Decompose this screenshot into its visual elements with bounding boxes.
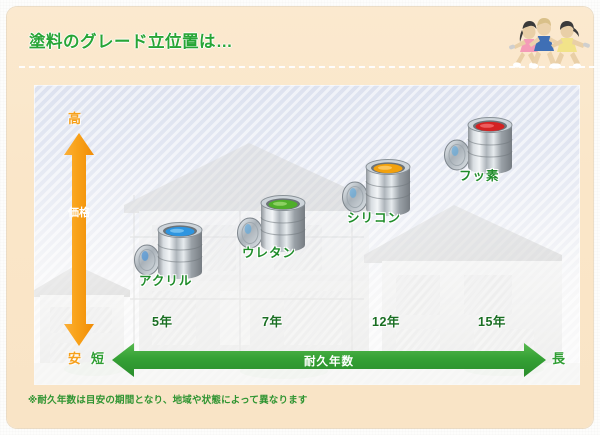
footnote-text: ※耐久年数は目安の期間となり、地域や状態によって異なります: [28, 392, 308, 406]
axis-cap-long: 長: [552, 348, 565, 367]
price-axis-label: 価格: [64, 207, 94, 220]
axis-cap-high: 高: [68, 108, 81, 127]
slide-canvas: 塗料のグレード立位置は…: [0, 0, 600, 435]
axis-cap-low: 安: [68, 348, 81, 367]
axis-cap-short: 短: [91, 348, 104, 367]
grade-years-fluorine: 15年: [478, 311, 506, 330]
grade-label-silicon: シリコン: [347, 207, 401, 226]
grade-years-urethane: 7年: [262, 311, 282, 330]
price-axis-arrow: 価格: [64, 133, 94, 346]
diagram-panel: 高 価格 安 短: [34, 85, 580, 385]
grade-label-fluorine: フッ素: [459, 165, 500, 184]
durability-axis-arrow: 耐久年数: [112, 343, 546, 377]
content-card: 塗料のグレード立位置は…: [7, 7, 593, 428]
grade-years-silicon: 12年: [372, 311, 400, 330]
cartoon-people-icon: [504, 16, 596, 74]
grade-label-acrylic: アクリル: [139, 270, 192, 289]
grade-label-urethane: ウレタン: [242, 242, 296, 261]
durability-axis-label: 耐久年数: [112, 353, 546, 369]
page-title: 塗料のグレード立位置は…: [29, 28, 233, 52]
grade-years-acrylic: 5年: [152, 311, 172, 330]
